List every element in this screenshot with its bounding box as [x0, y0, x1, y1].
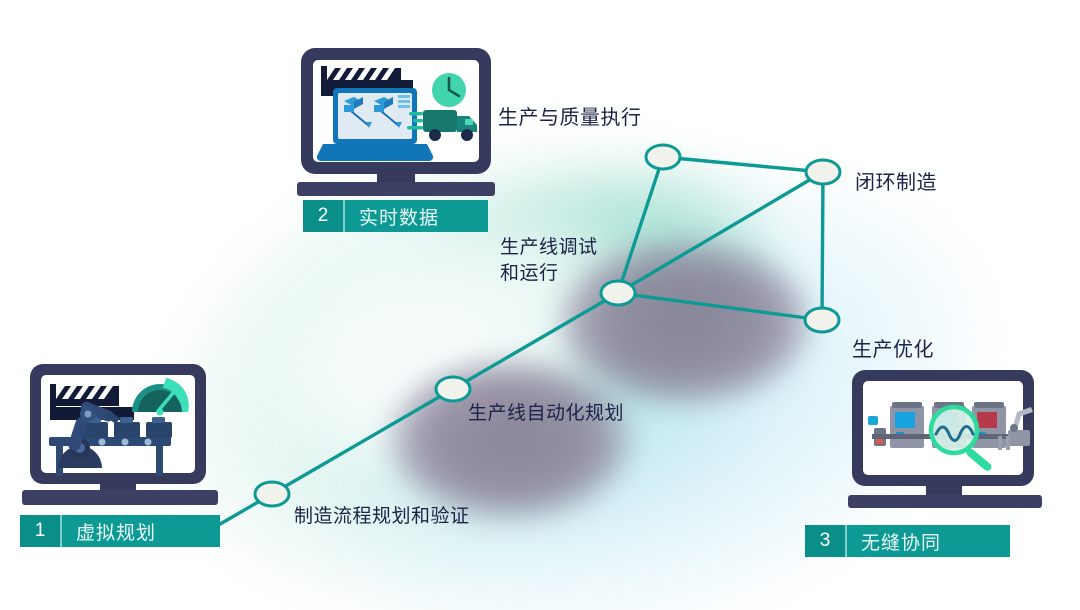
- graph-edge: [618, 172, 823, 293]
- graph-edge: [822, 172, 823, 320]
- graph-node-n-mid-diagonal[interactable]: [436, 377, 470, 401]
- graph-edge: [618, 293, 822, 320]
- graph-node-n-right-bottom[interactable]: [805, 308, 839, 332]
- badge-2-number: 2: [303, 200, 345, 232]
- node-label-manufacturing-process-planning-validation: 制造流程规划和验证: [294, 505, 470, 528]
- badge-3-number: 3: [805, 525, 847, 557]
- callout-production-optimization: 生产优化: [852, 337, 934, 364]
- device-virtual-planning[interactable]: [22, 362, 222, 517]
- graph-edge: [453, 293, 618, 389]
- graph-edge: [272, 389, 453, 494]
- graph-edge: [663, 157, 823, 172]
- callout-production-quality-execution: 生产与质量执行: [498, 105, 642, 132]
- device-seamless-collaboration[interactable]: [848, 368, 1048, 515]
- badge-virtual-planning[interactable]: 1 虚拟规划: [20, 515, 220, 547]
- infographic-canvas: 生产与质量执行 闭环制造 生产优化 生产线调试 和运行 生产线自动化规划 制造流…: [0, 0, 1080, 610]
- graph-node-n-bottom-left[interactable]: [255, 482, 289, 506]
- badge-seamless-collaboration[interactable]: 3 无缝协同: [805, 525, 1010, 557]
- production-line-magnifier-icon: [848, 368, 1048, 510]
- graph-node-n-top[interactable]: [646, 145, 680, 169]
- badge-3-label: 无缝协同: [847, 525, 957, 557]
- graph-edges: [196, 157, 823, 538]
- node-label-line-commissioning-and-operation: 生产线调试 和运行: [500, 235, 598, 287]
- callout-closed-loop-manufacturing: 闭环制造: [855, 170, 937, 197]
- node-label-line-automation-planning: 生产线自动化规划: [468, 402, 624, 425]
- badge-realtime-data[interactable]: 2 实时数据: [303, 200, 488, 232]
- graph-node-n-hub[interactable]: [601, 281, 635, 305]
- graph-node-n-right-top[interactable]: [806, 160, 840, 184]
- badge-1-label: 虚拟规划: [62, 515, 172, 547]
- robot-arm-conveyor-gauge-icon: [22, 362, 222, 512]
- badge-2-label: 实时数据: [345, 200, 455, 232]
- device-realtime-data[interactable]: [297, 46, 509, 201]
- badge-1-number: 1: [20, 515, 62, 547]
- factory-laptop-clock-truck-icon: [297, 46, 509, 196]
- graph-edge: [618, 157, 663, 293]
